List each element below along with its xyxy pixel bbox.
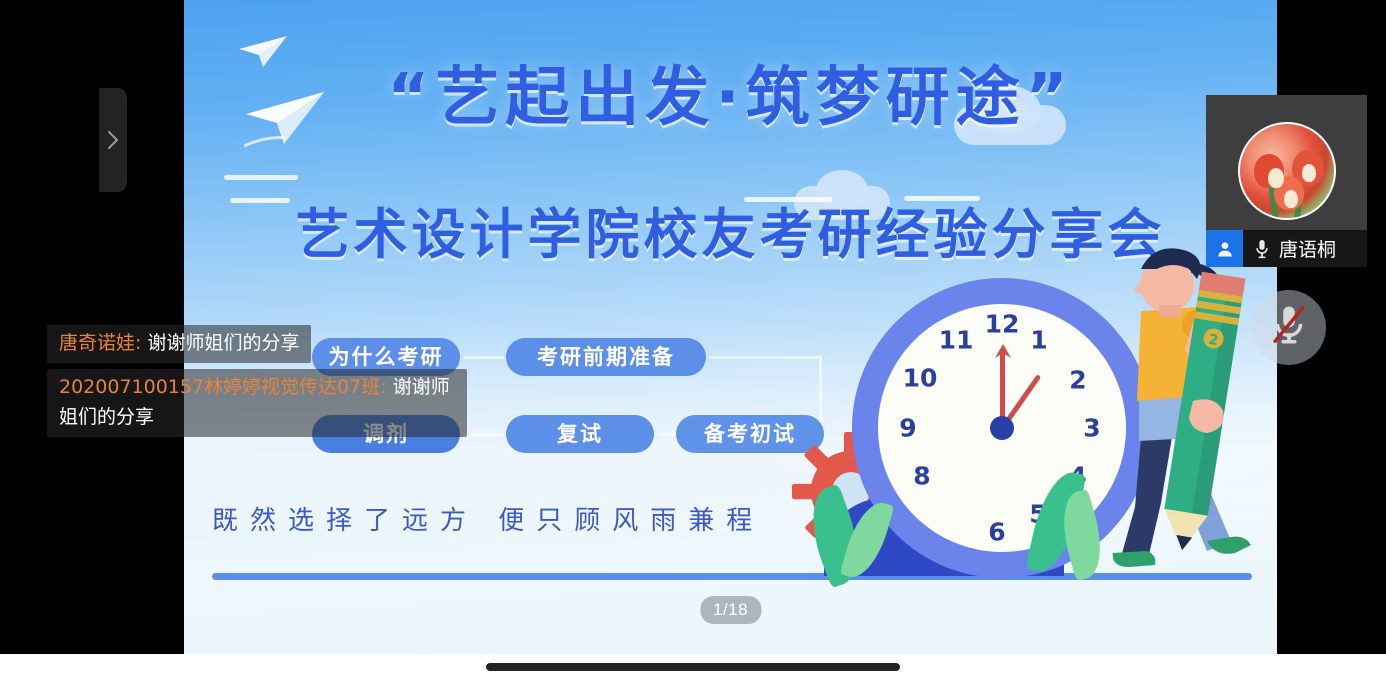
clock-number: 12 xyxy=(985,310,1020,339)
participant-tile[interactable]: 唐语桐 xyxy=(1206,95,1367,267)
participant-status-bar: 唐语桐 xyxy=(1206,230,1367,267)
page-indicator: 1/18 xyxy=(700,596,761,624)
slide-title: “艺起出发·筑梦研途” xyxy=(184,62,1277,136)
chat-sender: 202007100157林婷婷视觉传达07班 xyxy=(59,376,380,398)
chat-text: 谢谢师姐们的分享 xyxy=(147,332,299,354)
microphone-muted-icon xyxy=(1269,303,1309,352)
microphone-icon xyxy=(1253,238,1271,260)
chat-message: 唐奇诺娃: 谢谢师姐们的分享 xyxy=(47,325,522,369)
system-navigation-area xyxy=(0,654,1386,681)
clock-number: 8 xyxy=(913,462,930,491)
chevron-right-icon xyxy=(107,130,119,150)
screen-root: “艺起出发·筑梦研途” 艺术设计学院校友考研经验分享会 为什么考研 考研前期准备… xyxy=(0,0,1386,681)
dash-line xyxy=(224,175,298,180)
drawer-expand-handle[interactable] xyxy=(99,88,127,192)
participant-name: 唐语桐 xyxy=(1279,235,1336,262)
chat-separator: : xyxy=(380,376,392,398)
slide-quote: 既然选择了远方 便只顾风雨兼程 xyxy=(212,500,832,537)
clock-number: 1 xyxy=(1030,326,1047,355)
clock-number: 10 xyxy=(903,364,938,393)
chat-message: 202007100157林婷婷视觉传达07班: 谢谢师姐们的分享 xyxy=(47,369,522,443)
chat-sender: 唐奇诺娃 xyxy=(59,332,135,354)
clock-pivot xyxy=(990,416,1014,440)
avatar xyxy=(1238,122,1336,220)
chat-separator: : xyxy=(135,332,147,354)
clock-number: 9 xyxy=(899,414,916,443)
clock-number: 11 xyxy=(939,326,974,355)
flow-item-prep: 考研前期准备 xyxy=(506,338,706,376)
person-icon xyxy=(1206,230,1243,267)
home-indicator[interactable] xyxy=(486,663,900,671)
chat-overlay: 唐奇诺娃: 谢谢师姐们的分享 202007100157林婷婷视觉传达07班: 谢… xyxy=(47,325,522,443)
clock-number: 2 xyxy=(1069,366,1086,395)
clock-number: 6 xyxy=(988,518,1005,547)
person-with-pencil-illustration: 2 xyxy=(1089,245,1274,575)
video-stage: “艺起出发·筑梦研途” 艺术设计学院校友考研经验分享会 为什么考研 考研前期准备… xyxy=(0,0,1386,654)
mute-toggle-button[interactable] xyxy=(1251,290,1326,365)
flow-item-retest: 复试 xyxy=(506,415,654,453)
